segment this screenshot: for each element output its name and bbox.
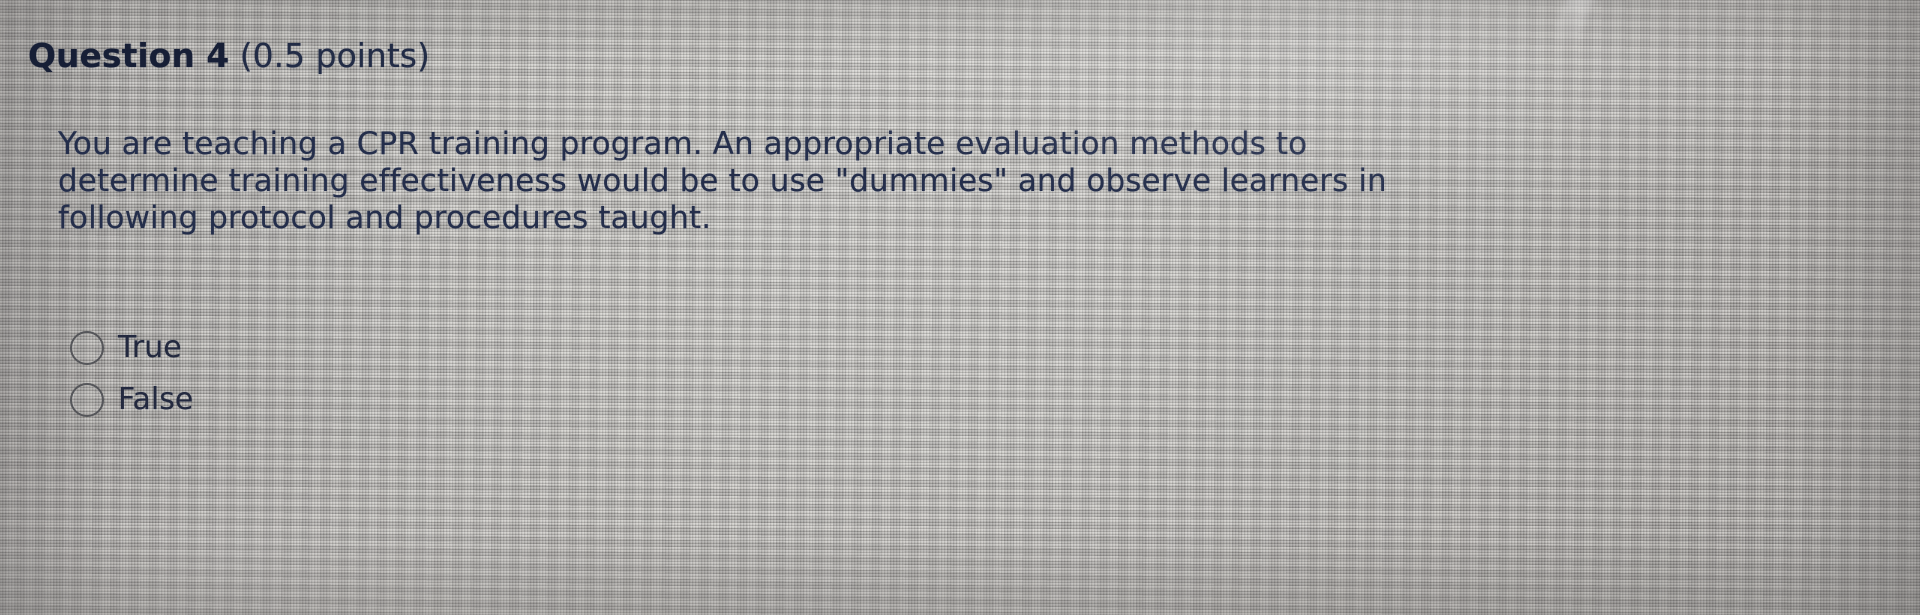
question-body-line: following protocol and procedures taught… bbox=[58, 200, 1920, 237]
question-screenshot: Question 4 (0.5 points) You are teaching… bbox=[0, 0, 1920, 615]
answer-option-true[interactable]: True bbox=[70, 322, 193, 374]
radio-button-icon[interactable] bbox=[70, 383, 104, 417]
question-body-line: You are teaching a CPR training program.… bbox=[58, 126, 1920, 163]
answer-option-false[interactable]: False bbox=[70, 374, 193, 426]
question-title: Question 4 (0.5 points) bbox=[28, 36, 430, 76]
answer-option-label: False bbox=[118, 383, 193, 417]
question-number-label: Question 4 bbox=[28, 36, 229, 75]
answer-option-label: True bbox=[118, 331, 182, 365]
radio-button-icon[interactable] bbox=[70, 331, 104, 365]
question-points-label: (0.5 points) bbox=[229, 36, 430, 75]
question-body-line: determine training effectiveness would b… bbox=[58, 163, 1920, 200]
answer-options-group: True False bbox=[70, 322, 193, 426]
question-body-text: You are teaching a CPR training program.… bbox=[58, 126, 1920, 237]
